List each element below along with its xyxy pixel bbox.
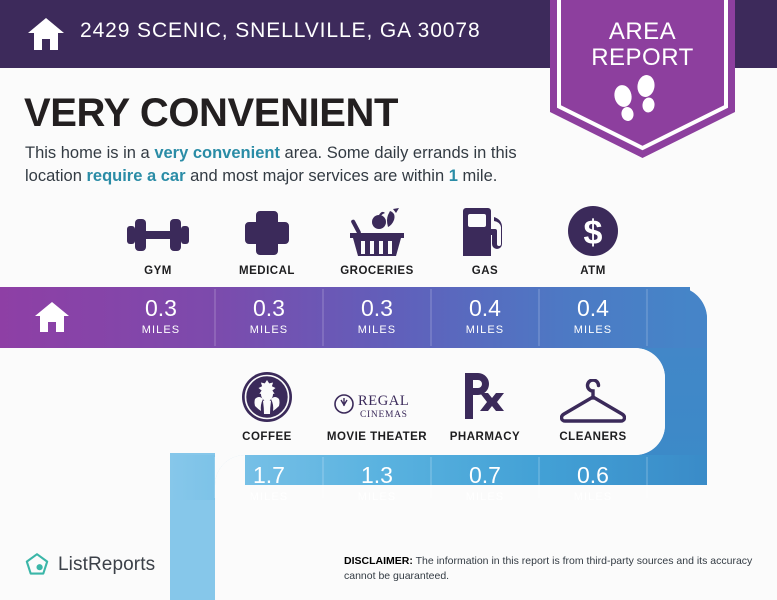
listreports-pentagon-icon xyxy=(24,552,50,578)
area-report-infographic: 2429 SCENIC, SNELLVILLE, GA 30078 AREA R… xyxy=(0,0,777,600)
row2-icons: COFFEE REGAL CINEMAS MOVIE THEATER xyxy=(0,371,777,451)
rx-pharmacy-icon xyxy=(461,371,509,423)
category-label: GROCERIES xyxy=(323,265,431,277)
category-label: GYM xyxy=(104,265,212,277)
clothes-hanger-icon xyxy=(560,379,626,423)
category-medical: MEDICAL xyxy=(213,205,321,277)
starbucks-coffee-icon xyxy=(241,371,293,423)
category-label: MEDICAL xyxy=(213,265,321,277)
category-movie-theater: REGAL CINEMAS MOVIE THEATER xyxy=(323,371,431,443)
category-label: GAS xyxy=(431,265,539,277)
category-atm: $ ATM xyxy=(539,205,647,277)
category-label: COFFEE xyxy=(213,431,321,443)
row1-icons: GYM MEDICAL xyxy=(0,205,777,280)
category-gas: GAS xyxy=(431,205,539,277)
gas-pump-icon xyxy=(461,207,509,257)
category-label: MOVIE THEATER xyxy=(323,431,431,443)
subtitle-part1: This home is in a xyxy=(25,144,154,162)
subtitle-highlight-car: require a car xyxy=(86,167,185,185)
dumbbell-icon xyxy=(127,213,189,257)
subtitle-highlight-distance: 1 xyxy=(449,167,458,185)
subtitle-part4: mile. xyxy=(458,167,497,185)
svg-text:CINEMAS: CINEMAS xyxy=(360,410,408,420)
category-coffee: COFFEE xyxy=(213,371,321,443)
subtitle-part3: and most major services are within xyxy=(186,167,449,185)
category-pharmacy: PHARMACY xyxy=(431,371,539,443)
home-icon xyxy=(33,300,71,334)
listreports-logo[interactable]: ListReports xyxy=(24,552,155,578)
svg-text:REGAL: REGAL xyxy=(358,393,409,409)
disclaimer: DISCLAIMER: The information in this repo… xyxy=(344,554,768,584)
svg-text:$: $ xyxy=(584,214,603,252)
medical-cross-icon xyxy=(243,209,291,257)
category-groceries: GROCERIES xyxy=(323,205,431,277)
category-label: PHARMACY xyxy=(431,431,539,443)
grocery-basket-icon xyxy=(348,207,406,257)
subtitle: This home is in a very convenient area. … xyxy=(25,142,555,189)
regal-cinemas-icon: REGAL CINEMAS xyxy=(332,391,422,423)
listreports-name: ListReports xyxy=(58,554,155,576)
category-gym: GYM xyxy=(104,205,212,277)
page-title: VERY CONVENIENT xyxy=(24,91,398,136)
subtitle-highlight-convenient: very convenient xyxy=(154,144,280,162)
category-cleaners: CLEANERS xyxy=(539,371,647,443)
category-label: CLEANERS xyxy=(539,431,647,443)
category-label: ATM xyxy=(539,265,647,277)
area-report-badge: AREA REPORT xyxy=(550,0,735,160)
atm-dollar-icon: $ xyxy=(567,205,619,257)
disclaimer-label: DISCLAIMER: xyxy=(344,555,413,567)
home-icon xyxy=(26,16,66,52)
header-address: 2429 SCENIC, SNELLVILLE, GA 30078 xyxy=(80,19,481,43)
